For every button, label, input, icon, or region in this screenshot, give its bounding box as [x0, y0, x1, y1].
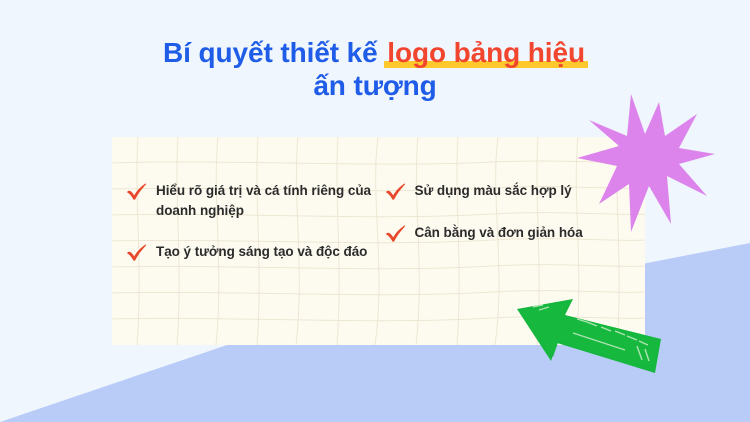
check-icon [385, 182, 406, 201]
list-item: Hiểu rõ giá trị và cá tính riêng của doa… [126, 181, 373, 220]
list-item-label: Cân bằng và đơn giản hóa [415, 223, 583, 243]
list-item-label: Hiểu rõ giá trị và cá tính riêng của doa… [156, 181, 371, 220]
slide-canvas: Hiểu rõ giá trị và cá tính riêng của doa… [0, 0, 750, 422]
list-item-label: Sử dụng màu sắc hợp lý [415, 181, 572, 201]
check-icon [126, 182, 147, 201]
check-icon [126, 243, 147, 262]
list-item: Tạo ý tưởng sáng tạo và độc đáo [126, 242, 373, 262]
green-arrow-up-left-icon [515, 293, 665, 378]
purple-burst-star-icon [575, 92, 717, 234]
list-item-label: Tạo ý tưởng sáng tạo và độc đáo [156, 242, 367, 262]
bullet-column-left: Hiểu rõ giá trị và cá tính riêng của doa… [112, 137, 379, 345]
check-icon [385, 224, 406, 243]
